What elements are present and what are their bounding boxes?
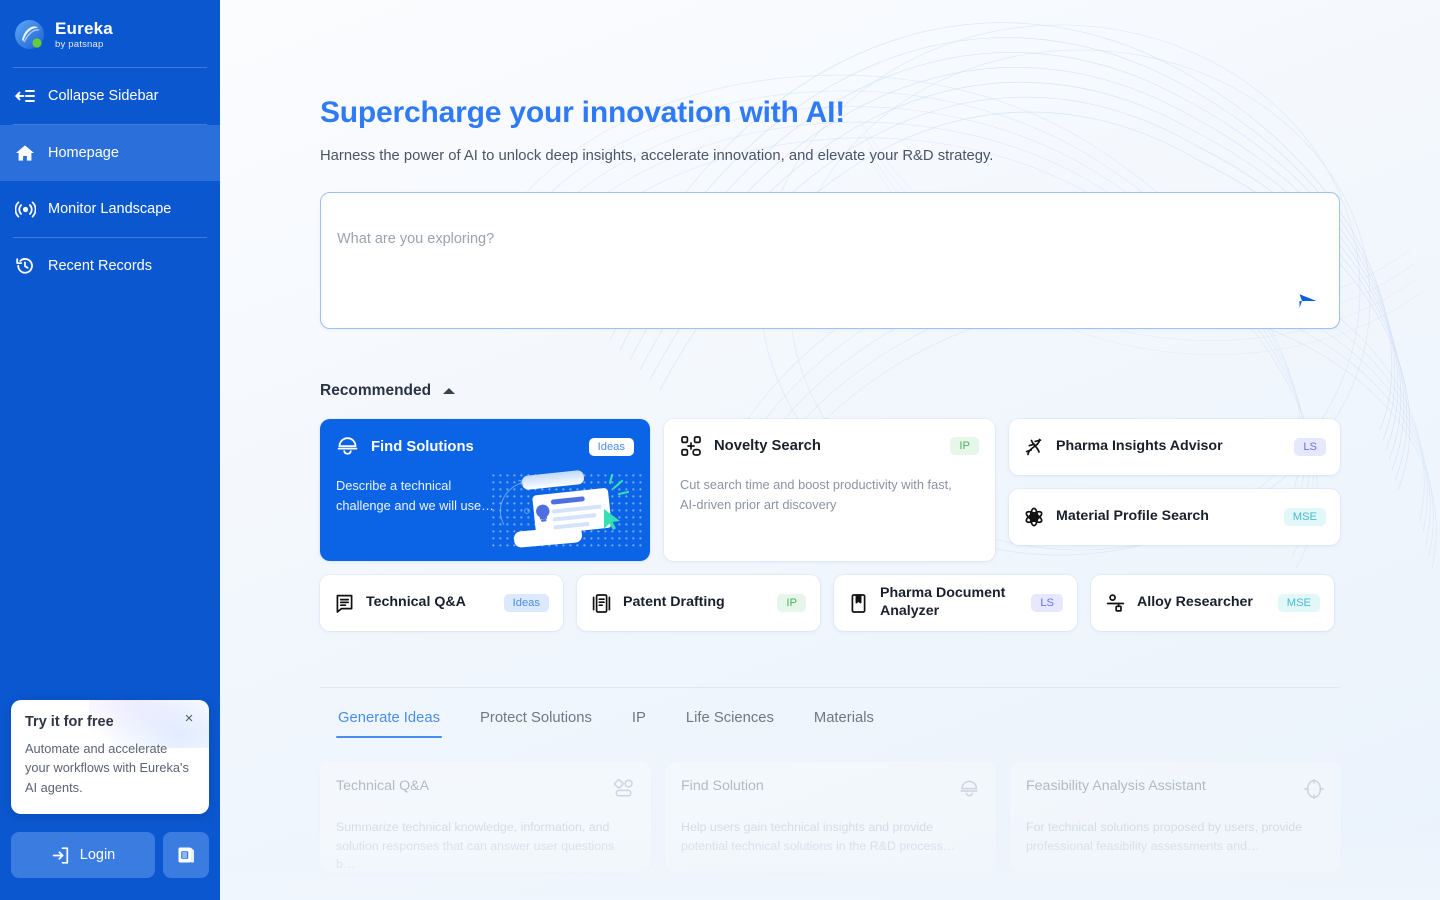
sidebar: Eureka by patsnap Collapse Sidebar Homep…: [0, 0, 220, 900]
home-icon: [14, 142, 36, 164]
promo-card: Try it for free × Automate and accelerat…: [11, 700, 209, 814]
tab-life-sciences[interactable]: Life Sciences: [686, 710, 774, 738]
card-title: Material Profile Search: [1056, 508, 1209, 526]
bookmark-doc-icon: [848, 593, 869, 614]
novelty-scan-icon: [680, 435, 702, 457]
login-button[interactable]: Login: [11, 832, 155, 878]
send-button[interactable]: [1295, 288, 1321, 314]
brand-logo-block[interactable]: Eureka by patsnap: [0, 0, 220, 67]
agent-card-description: Summarize technical knowledge, informati…: [336, 818, 635, 874]
card-title: Technical Q&A: [366, 594, 466, 612]
card-title: Alloy Researcher: [1137, 594, 1253, 612]
login-arrow-icon: [51, 846, 70, 865]
recommended-header: Recommended: [320, 382, 1440, 400]
card-title: Patent Drafting: [623, 594, 725, 612]
dna-helix-icon: [1023, 436, 1045, 458]
main-inner: Supercharge your innovation with AI! Har…: [220, 0, 1440, 872]
card-alloy-researcher[interactable]: Alloy Researcher MSE: [1091, 575, 1334, 631]
card-title: Pharma Document Analyzer: [880, 585, 1031, 621]
sidebar-item-collapse-sidebar[interactable]: Collapse Sidebar: [0, 68, 220, 124]
sidebar-item-monitor-landscape[interactable]: Monitor Landscape: [0, 181, 220, 237]
target-circle-icon: [1303, 778, 1325, 800]
collapse-sidebar-icon: [14, 85, 36, 107]
agent-card-feasibility-analysis-assistant[interactable]: Feasibility Analysis Assistant For techn…: [1010, 762, 1341, 872]
card-title: Find Solutions: [371, 439, 474, 455]
chat-document-icon: [334, 593, 355, 614]
dome-solution-icon: [336, 435, 359, 458]
promo-title: Try it for free: [25, 714, 195, 730]
search-input[interactable]: [337, 209, 1323, 269]
radar-icon: [14, 198, 36, 220]
sidebar-spacer: [0, 294, 220, 700]
close-icon[interactable]: ×: [181, 712, 197, 728]
history-clock-icon: [14, 255, 36, 277]
agent-card-description: Help users gain technical insights and p…: [681, 818, 980, 855]
card-pharma-document-analyzer[interactable]: Pharma Document Analyzer LS: [834, 575, 1077, 631]
recommended-col-featured: Find Solutions Ideas Describe a technica…: [320, 419, 650, 561]
card-title: Novelty Search: [714, 438, 821, 454]
browser-extension-icon: [175, 844, 197, 866]
recommended-col-right: Pharma Insights Advisor LS: [1009, 419, 1340, 561]
send-paper-plane-icon: [1297, 290, 1319, 312]
tab-ip[interactable]: IP: [632, 710, 646, 738]
recommended-col-novelty: Novelty Search IP Cut search time and bo…: [664, 419, 995, 561]
caret-up-icon[interactable]: [443, 388, 455, 394]
sidebar-item-homepage[interactable]: Homepage: [0, 125, 220, 181]
status-badge: MSE: [1278, 594, 1320, 612]
agent-card-description: For technical solutions proposed by user…: [1026, 818, 1325, 855]
sidebar-item-label: Homepage: [48, 145, 119, 161]
dome-solution-icon: [958, 778, 980, 800]
card-description: Cut search time and boost productivity w…: [680, 475, 965, 515]
page-subtitle: Harness the power of AI to unlock deep i…: [320, 148, 1440, 164]
search-box[interactable]: [320, 192, 1340, 329]
status-badge: Ideas: [589, 438, 634, 456]
category-tabs: Generate Ideas Protect Solutions IP Life…: [320, 710, 1440, 738]
recommended-title: Recommended: [320, 382, 431, 400]
section-divider: [320, 687, 1340, 688]
main-content: Supercharge your innovation with AI! Har…: [220, 0, 1440, 900]
card-novelty-search[interactable]: Novelty Search IP Cut search time and bo…: [664, 419, 995, 561]
recommended-grid: Find Solutions Ideas Describe a technica…: [320, 419, 1440, 561]
agent-card-find-solution[interactable]: Find Solution Help users gain technical …: [665, 762, 996, 872]
login-label: Login: [80, 847, 115, 863]
promo-pointer: [38, 804, 58, 814]
status-badge: IP: [950, 437, 979, 455]
sidebar-item-label: Monitor Landscape: [48, 201, 171, 217]
card-pharma-insights-advisor[interactable]: Pharma Insights Advisor LS: [1009, 419, 1340, 475]
card-patent-drafting[interactable]: Patent Drafting IP: [577, 575, 820, 631]
eureka-logo-icon: [13, 18, 46, 51]
card-description: Describe a technical challenge and we wi…: [336, 476, 496, 516]
agent-card-title: Find Solution: [681, 778, 764, 794]
card-material-profile-search[interactable]: Material Profile Search MSE: [1009, 489, 1340, 545]
agent-card-title: Feasibility Analysis Assistant: [1026, 778, 1206, 794]
sidebar-item-label: Collapse Sidebar: [48, 88, 158, 104]
brand-name: Eureka: [55, 20, 113, 37]
tab-protect-solutions[interactable]: Protect Solutions: [480, 710, 592, 738]
card-title: Pharma Insights Advisor: [1056, 438, 1223, 456]
card-find-solutions[interactable]: Find Solutions Ideas Describe a technica…: [320, 419, 650, 561]
qa-bubble-icon: [613, 778, 635, 800]
status-badge: MSE: [1284, 508, 1326, 526]
agent-card-technical-qa[interactable]: Technical Q&A Summarize technical knowle…: [320, 762, 651, 872]
browser-extension-button[interactable]: [163, 832, 209, 878]
atom-icon: [1023, 506, 1045, 528]
card-technical-qa[interactable]: Technical Q&A Ideas: [320, 575, 563, 631]
promo-body: Automate and accelerate your workflows w…: [25, 739, 195, 798]
agent-card-title: Technical Q&A: [336, 778, 429, 794]
promo-card-wrapper: Try it for free × Automate and accelerat…: [0, 700, 220, 814]
sidebar-footer-actions: Login: [0, 814, 220, 900]
sidebar-item-label: Recent Records: [48, 258, 152, 274]
brand-tagline: by patsnap: [55, 40, 113, 50]
tab-generate-ideas[interactable]: Generate Ideas: [338, 710, 440, 738]
patent-doc-icon: [591, 593, 612, 614]
status-badge: LS: [1031, 594, 1063, 612]
tab-materials[interactable]: Materials: [814, 710, 874, 738]
page-title: Supercharge your innovation with AI!: [320, 96, 1440, 129]
recommended-bottom-row: Technical Q&A Ideas Patent Drafting IP: [320, 575, 1440, 631]
status-badge: LS: [1294, 438, 1326, 456]
agent-card-row: Technical Q&A Summarize technical knowle…: [320, 762, 1440, 872]
sidebar-item-recent-records[interactable]: Recent Records: [0, 238, 220, 294]
alloy-balance-icon: [1105, 593, 1126, 614]
status-badge: Ideas: [504, 594, 549, 612]
status-badge: IP: [777, 594, 806, 612]
